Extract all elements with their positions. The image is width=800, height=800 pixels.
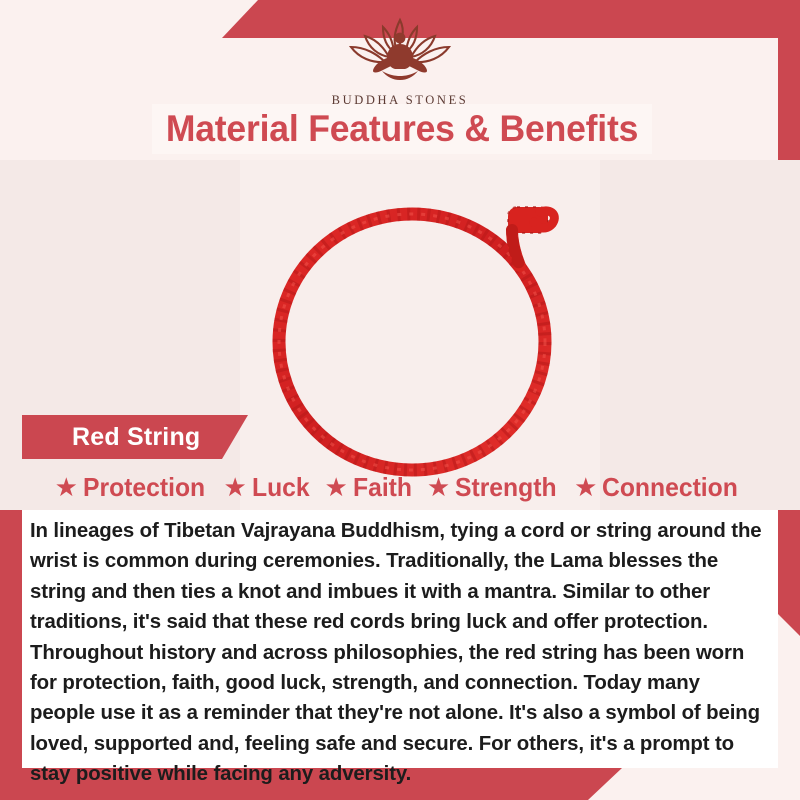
star-icon: ★: [427, 474, 450, 500]
benefit-label: Luck: [252, 472, 310, 503]
star-icon: ★: [574, 474, 597, 500]
benefit-item: ★ Protection: [49, 472, 218, 503]
benefit-item: ★ Connection: [568, 472, 751, 503]
ribbon-text: Red String: [72, 423, 200, 452]
page-title: Material Features & Benefits: [166, 108, 638, 150]
benefit-label: Faith: [353, 472, 412, 503]
lotus-meditation-icon: [0, 14, 800, 91]
brand-logo: BUDDHA STONES: [0, 14, 800, 108]
benefit-item: ★ Luck: [217, 472, 318, 503]
star-icon: ★: [55, 474, 78, 500]
header: BUDDHA STONES Material Features & Benefi…: [0, 0, 800, 160]
benefits-row: ★ Protection ★ Luck ★ Faith ★ Strength ★…: [22, 466, 778, 508]
infographic-page: BUDDHA STONES Material Features & Benefi…: [0, 0, 800, 800]
benefit-label: Strength: [455, 472, 557, 503]
benefit-item: ★ Faith: [318, 472, 420, 503]
benefit-item: ★ Strength: [421, 472, 568, 503]
description-panel: In lineages of Tibetan Vajrayana Buddhis…: [22, 510, 778, 768]
description-text: In lineages of Tibetan Vajrayana Buddhis…: [30, 516, 770, 790]
product-ribbon-label: Red String: [22, 415, 248, 459]
benefit-label: Connection: [602, 472, 738, 503]
benefit-label: Protection: [83, 472, 205, 503]
product-photo: [240, 160, 600, 510]
star-icon: ★: [223, 474, 246, 500]
page-title-band: Material Features & Benefits: [152, 104, 652, 154]
star-icon: ★: [324, 474, 347, 500]
